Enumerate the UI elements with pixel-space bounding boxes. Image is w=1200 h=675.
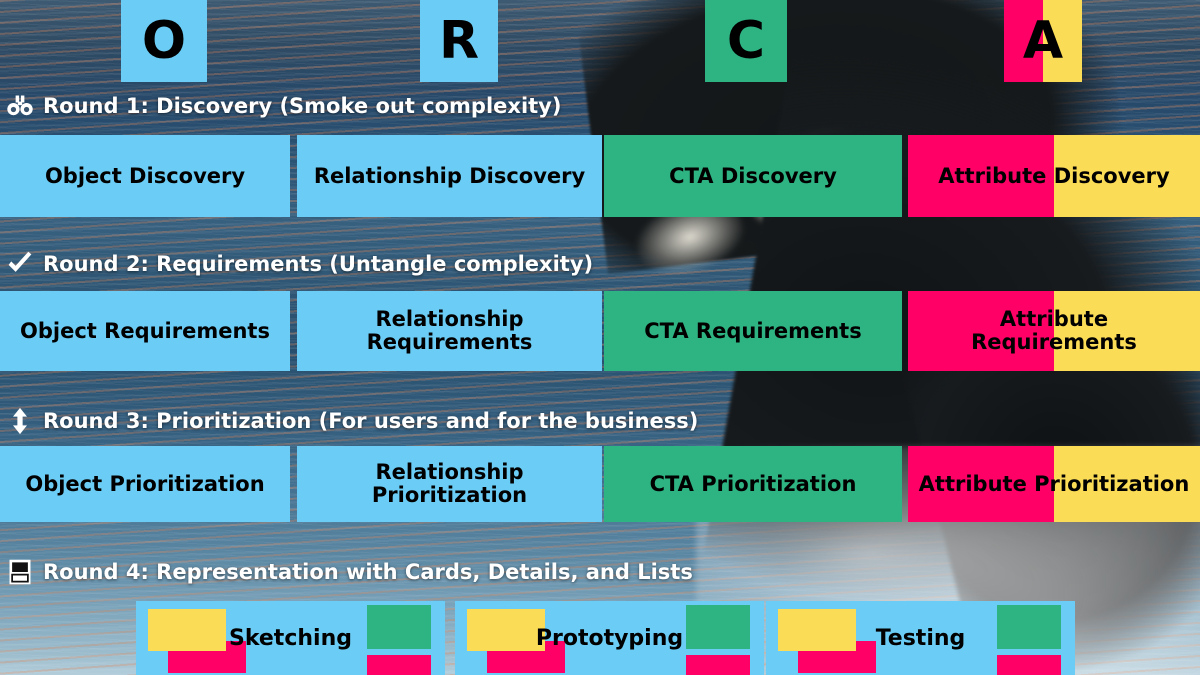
round-2-activity-row: Object RequirementsRelationship Requirem… [0, 291, 1200, 371]
activity-cell[interactable]: CTA Discovery [604, 135, 902, 217]
activity-cell[interactable]: Relationship Requirements [297, 291, 602, 371]
card-layout-icon [6, 558, 34, 586]
orca-framework-diagram: ORCARound 1: Discovery (Smoke out comple… [0, 0, 1200, 675]
round-3-activity-row: Object PrioritizationRelationship Priori… [0, 446, 1200, 522]
representation-cell[interactable]: Prototyping [455, 601, 764, 675]
orca-letter: C [727, 15, 765, 67]
activity-cell-label: Object Requirements [20, 320, 270, 343]
pink-swatch [367, 655, 431, 675]
activity-cell-label: Object Prioritization [25, 473, 264, 496]
round-1-activity-row: Object DiscoveryRelationship DiscoveryCT… [0, 135, 1200, 217]
activity-cell-label: Relationship Requirements [303, 308, 596, 353]
binoculars-icon [6, 92, 34, 120]
cell-gap [290, 446, 297, 522]
representation-cell[interactable]: Testing [766, 601, 1075, 675]
activity-cell-label: Attribute Requirements [914, 308, 1194, 353]
round-heading-text: Round 2: Requirements (Untangle complexi… [43, 252, 593, 276]
activity-cell-label: CTA Discovery [669, 165, 837, 188]
cell-gap [0, 601, 136, 675]
activity-cell-label: Attribute Prioritization [919, 473, 1190, 496]
activity-cell[interactable]: Object Discovery [0, 135, 290, 217]
round-heading-3: Round 3: Prioritization (For users and f… [6, 407, 698, 435]
orca-letter-tile-c: C [705, 0, 787, 82]
activity-cell-label: Relationship Prioritization [303, 461, 596, 506]
orca-letter-tile-a: A [1004, 0, 1082, 82]
representation-cell-label: Testing [766, 626, 1075, 651]
orca-letter: O [142, 15, 186, 67]
activity-cell-label: Attribute Discovery [938, 165, 1169, 188]
activity-cell[interactable]: Attribute Requirements [908, 291, 1200, 371]
orca-letter-tile-r: R [420, 0, 498, 82]
orca-letter-tile-o: O [121, 0, 207, 82]
round-4-activity-row: SketchingPrototypingTesting [0, 601, 1200, 675]
round-heading-1: Round 1: Discovery (Smoke out complexity… [6, 92, 561, 120]
up-down-arrow-icon [6, 407, 34, 435]
round-heading-text: Round 4: Representation with Cards, Deta… [43, 560, 693, 584]
round-heading-2: Round 2: Requirements (Untangle complexi… [6, 250, 593, 278]
cell-gap [290, 291, 297, 371]
round-heading-text: Round 3: Prioritization (For users and f… [43, 409, 698, 433]
activity-cell-label: CTA Requirements [644, 320, 861, 343]
pink-swatch [686, 655, 750, 675]
round-heading-text: Round 1: Discovery (Smoke out complexity… [43, 94, 561, 118]
activity-cell[interactable]: CTA Prioritization [604, 446, 902, 522]
activity-cell[interactable]: Relationship Prioritization [297, 446, 602, 522]
activity-cell[interactable]: Object Requirements [0, 291, 290, 371]
pink-swatch [997, 655, 1061, 675]
activity-cell[interactable]: Attribute Discovery [908, 135, 1200, 217]
orca-letter: A [1023, 15, 1063, 67]
activity-cell-label: CTA Prioritization [650, 473, 857, 496]
activity-cell[interactable]: CTA Requirements [604, 291, 902, 371]
representation-cell[interactable]: Sketching [136, 601, 445, 675]
representation-cell-label: Prototyping [455, 626, 764, 651]
check-icon [6, 250, 34, 278]
orca-letter: R [439, 15, 479, 67]
activity-cell[interactable]: Attribute Prioritization [908, 446, 1200, 522]
round-heading-4: Round 4: Representation with Cards, Deta… [6, 558, 693, 586]
cell-gap [445, 601, 455, 675]
activity-cell[interactable]: Relationship Discovery [297, 135, 602, 217]
activity-cell[interactable]: Object Prioritization [0, 446, 290, 522]
representation-cell-label: Sketching [136, 626, 445, 651]
cell-gap [290, 135, 297, 217]
activity-cell-label: Relationship Discovery [314, 165, 585, 188]
activity-cell-label: Object Discovery [45, 165, 245, 188]
